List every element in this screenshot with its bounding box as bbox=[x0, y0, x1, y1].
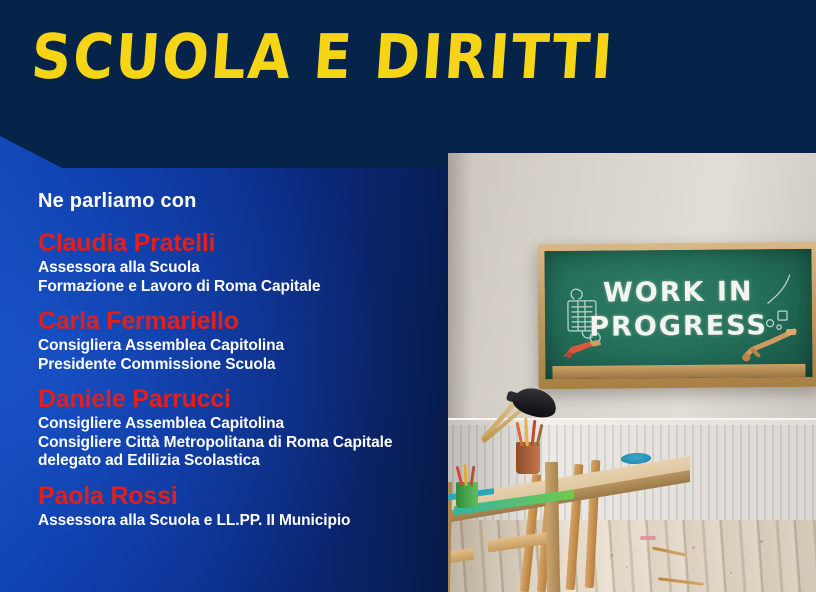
floor-speck bbox=[610, 554, 613, 557]
speaker-name: Daniele Parrucci bbox=[38, 385, 438, 414]
speaker-role-line: Consigliere Assemblea Capitolina bbox=[38, 415, 438, 434]
chalkboard-surface: WORK IN PROGRESS bbox=[544, 249, 812, 379]
speaker-entry: Carla Fermariello Consigliera Assemblea … bbox=[38, 307, 438, 374]
floor-speck bbox=[760, 540, 763, 543]
speaker-role-line: Presidente Commissione Scuola bbox=[38, 356, 438, 375]
floor-debris bbox=[640, 536, 656, 540]
speaker-name: Carla Fermariello bbox=[38, 307, 438, 336]
speaker-entry: Claudia Pratelli Assessora alla Scuola F… bbox=[38, 229, 438, 296]
speaker-entry: Paola Rossi Assessora alla Scuola e LL.P… bbox=[38, 482, 438, 531]
poster-canvas: WORK IN PROGRESS bbox=[0, 0, 816, 592]
speaker-role-line: Formazione e Lavoro di Roma Capitale bbox=[38, 278, 438, 297]
page-title: SCUOLA E DIRITTI bbox=[29, 22, 616, 91]
speaker-role-line: Assessora alla Scuola e LL.PP. II Munici… bbox=[38, 512, 438, 531]
speaker-entry: Daniele Parrucci Consigliere Assemblea C… bbox=[38, 385, 438, 471]
speaker-name: Claudia Pratelli bbox=[38, 229, 438, 258]
floor-speck bbox=[626, 566, 628, 568]
wooden-floor bbox=[430, 520, 816, 592]
speaker-role-line: Consigliere Città Metropolitana di Roma … bbox=[38, 434, 438, 453]
chalkboard-ledge bbox=[552, 364, 805, 379]
table-leg bbox=[545, 462, 560, 592]
chalkboard-line-1: WORK IN bbox=[545, 275, 812, 311]
toy-red-tool-icon bbox=[559, 339, 605, 361]
floor-pencil bbox=[658, 577, 704, 586]
pencil-holder bbox=[516, 442, 540, 474]
speaker-role-line: Consigliera Assemblea Capitolina bbox=[38, 337, 438, 356]
intro-label: Ne parliamo con bbox=[38, 190, 438, 213]
speakers-section: Ne parliamo con Claudia Pratelli Assesso… bbox=[38, 190, 438, 541]
chalkboard-frame: WORK IN PROGRESS bbox=[537, 242, 816, 389]
floor-speck bbox=[730, 572, 732, 574]
floor-pencil bbox=[652, 546, 686, 556]
speaker-role-line: Assessora alla Scuola bbox=[38, 259, 438, 278]
toy-crane-icon bbox=[742, 327, 798, 361]
floor-speck bbox=[692, 546, 695, 549]
speaker-name: Paola Rossi bbox=[38, 482, 438, 511]
speaker-role-line: delegato ad Edilizia Scolastica bbox=[38, 452, 438, 471]
